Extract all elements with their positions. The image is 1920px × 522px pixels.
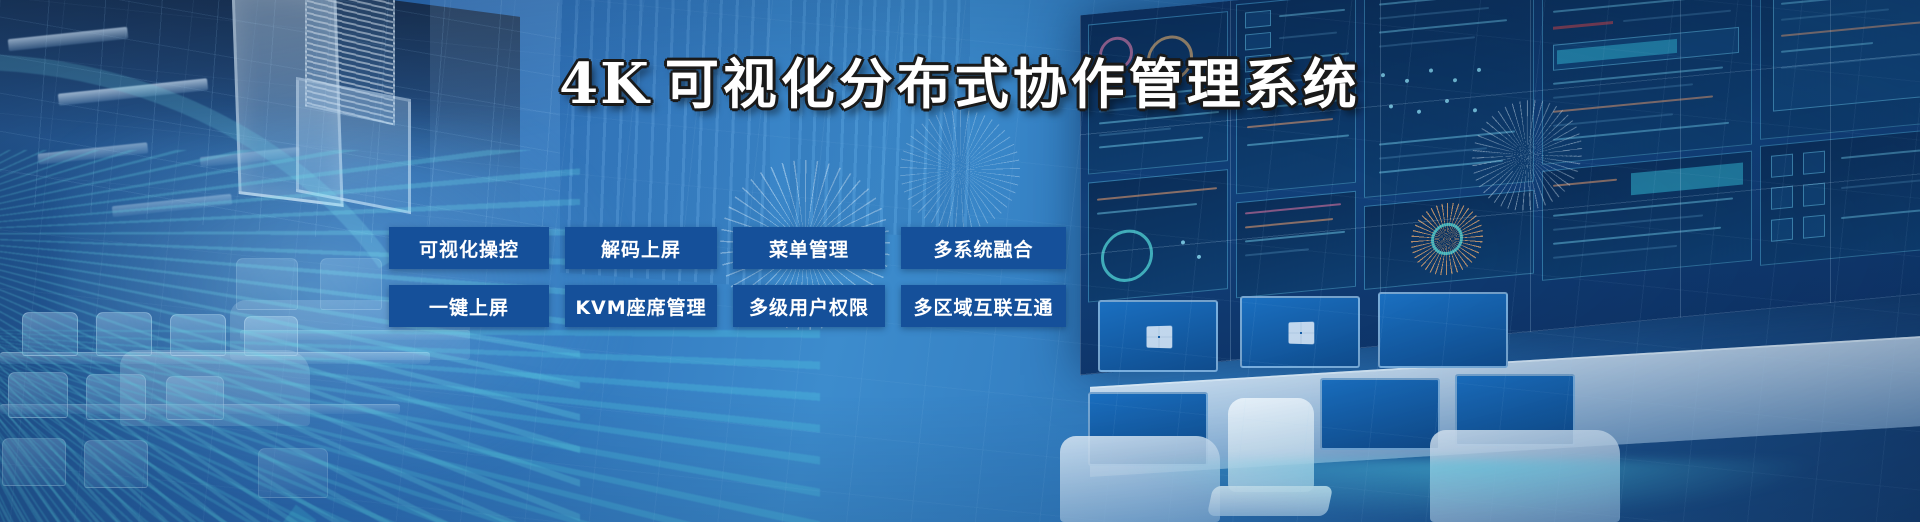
operator-monitor <box>1098 300 1218 372</box>
title-prefix-4k: 4K <box>559 51 651 117</box>
feature-button-row-2: 一键上屏 KVM座席管理 多级用户权限 多区域互联互通 <box>389 285 1079 327</box>
operator-monitor <box>1320 378 1440 450</box>
feature-button-multi-system-fusion[interactable]: 多系统融合 <box>901 227 1066 269</box>
server-rack <box>790 0 970 239</box>
floor-glow <box>1120 460 1820 520</box>
feature-button-decode-to-screen[interactable]: 解码上屏 <box>565 227 717 269</box>
page-title: 4K可视化分布式协作管理系统 <box>0 56 1920 112</box>
feature-button-row-1: 可视化操控 解码上屏 菜单管理 多系统融合 <box>389 227 1079 269</box>
glass-wall <box>430 0 560 256</box>
feature-button-visual-control[interactable]: 可视化操控 <box>389 227 549 269</box>
feature-button-one-key-to-screen[interactable]: 一键上屏 <box>389 285 549 327</box>
feature-button-kvm-seat-management[interactable]: KVM座席管理 <box>565 285 717 327</box>
windows-logo-icon <box>1147 326 1173 349</box>
windows-logo-icon <box>1289 322 1315 345</box>
feature-button-group: 可视化操控 解码上屏 菜单管理 多系统融合 一键上屏 KVM座席管理 多级用户权… <box>389 227 1079 327</box>
title-main-text: 可视化分布式协作管理系统 <box>665 53 1361 116</box>
operator-monitor <box>1240 296 1360 368</box>
feature-button-multilevel-user-permissions[interactable]: 多级用户权限 <box>733 285 885 327</box>
hero-banner: 4K可视化分布式协作管理系统 可视化操控 解码上屏 菜单管理 多系统融合 一键上… <box>0 0 1920 522</box>
operator-monitor <box>1378 292 1508 368</box>
feature-button-multi-region-interconnect[interactable]: 多区域互联互通 <box>901 285 1066 327</box>
feature-button-menu-management[interactable]: 菜单管理 <box>733 227 885 269</box>
